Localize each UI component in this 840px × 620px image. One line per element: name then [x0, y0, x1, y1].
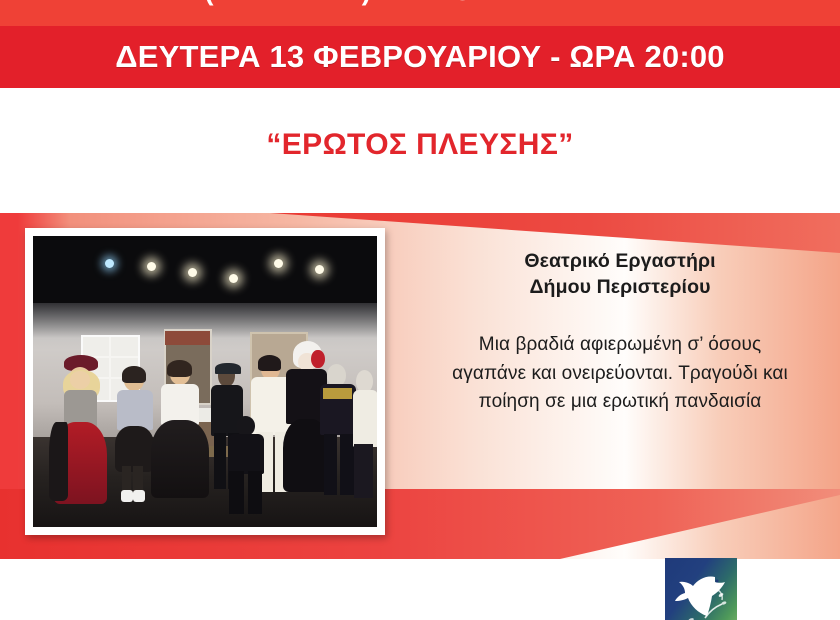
- photo-actor: [222, 416, 274, 515]
- description-line3: ποίηση σε μια ερωτική πανδαισία: [410, 388, 830, 417]
- stage-light-icon: [147, 262, 156, 271]
- info-text-block: Θεατρικό Εργαστήρι Δήμου Περιστερίου Μια…: [410, 248, 830, 417]
- date-banner: ΔΕΥΤΕΡΑ 13 ΦΕΒΡΟΥΑΡΙΟΥ - ΩΡΑ 20:00: [0, 26, 840, 88]
- lower-panel: Θεατρικό Εργαστήρι Δήμου Περιστερίου Μια…: [0, 213, 840, 559]
- dove-logo: [665, 558, 737, 620]
- photo-actor: [50, 358, 112, 504]
- stage-light-icon: [229, 274, 238, 283]
- photo-actor: [353, 370, 377, 498]
- photo-actor: [150, 364, 212, 504]
- stage-performance-photo: [33, 236, 377, 527]
- group-name: Θεατρικό Εργαστήρι Δήμου Περιστερίου: [410, 248, 830, 301]
- description-line2: αγαπάνε και ονειρεύονται. Τραγούδι και: [410, 360, 830, 389]
- show-title: “ΕΡΩΤΟΣ ΠΛΕΥΣΗΣ”: [0, 128, 840, 162]
- stage-light-icon: [188, 268, 197, 277]
- poster-canvas: (ΓΙΑ ΠΑΝΤΑ) ΕΛΕΥΘΕΡΗ ΣΚΗΝΗ ΔΕΥΤΕΡΑ 13 ΦΕ…: [0, 0, 840, 620]
- top-clipped-banner: (ΓΙΑ ΠΑΝΤΑ) ΕΛΕΥΘΕΡΗ ΣΚΗΝΗ: [0, 0, 840, 26]
- photo-frame: [25, 228, 385, 535]
- stage-light-icon: [274, 259, 283, 268]
- photo-ceiling: [33, 236, 377, 303]
- photo-door-top-panel: [165, 331, 210, 346]
- description-text: Μια βραδιά αφιερωμένη σ’ όσους αγαπάνε κ…: [410, 331, 830, 418]
- dove-icon: [671, 566, 731, 620]
- title-section: “ΕΡΩΤΟΣ ΠΛΕΥΣΗΣ”: [0, 88, 840, 213]
- description-line1: Μια βραδιά αφιερωμένη σ’ όσους: [410, 331, 830, 360]
- group-name-line2: Δήμου Περιστερίου: [410, 274, 830, 300]
- top-clipped-text: (ΓΙΑ ΠΑΝΤΑ) ΕΛΕΥΘΕΡΗ ΣΚΗΝΗ: [0, 0, 840, 7]
- group-name-line1: Θεατρικό Εργαστήρι: [410, 248, 830, 274]
- date-text: ΔΕΥΤΕΡΑ 13 ΦΕΒΡΟΥΑΡΙΟΥ - ΩΡΑ 20:00: [115, 39, 724, 75]
